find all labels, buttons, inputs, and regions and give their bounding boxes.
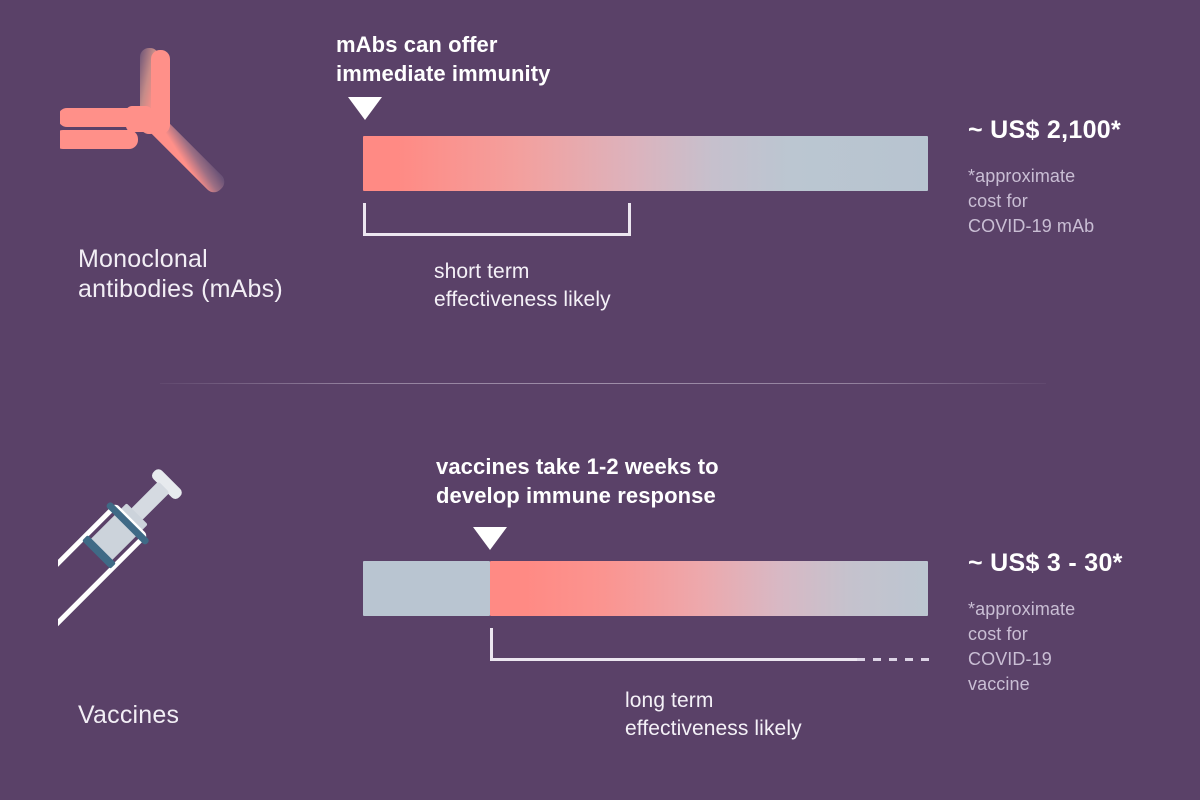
effectiveness-bracket-vaccines (490, 628, 857, 661)
row-label-vaccines: Vaccines (78, 700, 338, 730)
down-triangle-marker-vaccines (473, 527, 507, 550)
effectiveness-label-mabs: short term effectiveness likely (434, 258, 724, 314)
section-divider (160, 383, 1046, 384)
down-triangle-marker-mabs (348, 97, 382, 120)
callout-vaccines: vaccines take 1-2 weeks to develop immun… (436, 452, 856, 510)
row-label-mabs: Monoclonal antibodies (mAbs) (78, 244, 338, 304)
timeline-bar-mabs (363, 136, 928, 191)
cost-note-vaccines: *approximate cost for COVID-19 vaccine (968, 597, 1193, 697)
antibody-icon (60, 22, 240, 222)
syringe-icon (58, 468, 288, 678)
timeline-bar-vaccines-leadin (363, 561, 490, 616)
cost-value-mabs: ~ US$ 2,100* (968, 115, 1121, 145)
effectiveness-bracket-dotted-tail (857, 658, 929, 661)
cost-note-mabs: *approximate cost for COVID-19 mAb (968, 164, 1193, 239)
callout-mabs: mAbs can offer immediate immunity (336, 30, 666, 88)
infographic-canvas: Monoclonal antibodies (mAbs) mAbs can of… (0, 0, 1200, 800)
timeline-bar-vaccines-active (490, 561, 928, 616)
cost-value-vaccines: ~ US$ 3 - 30* (968, 548, 1123, 578)
effectiveness-bracket-mabs (363, 203, 631, 236)
effectiveness-label-vaccines: long term effectiveness likely (625, 687, 925, 743)
